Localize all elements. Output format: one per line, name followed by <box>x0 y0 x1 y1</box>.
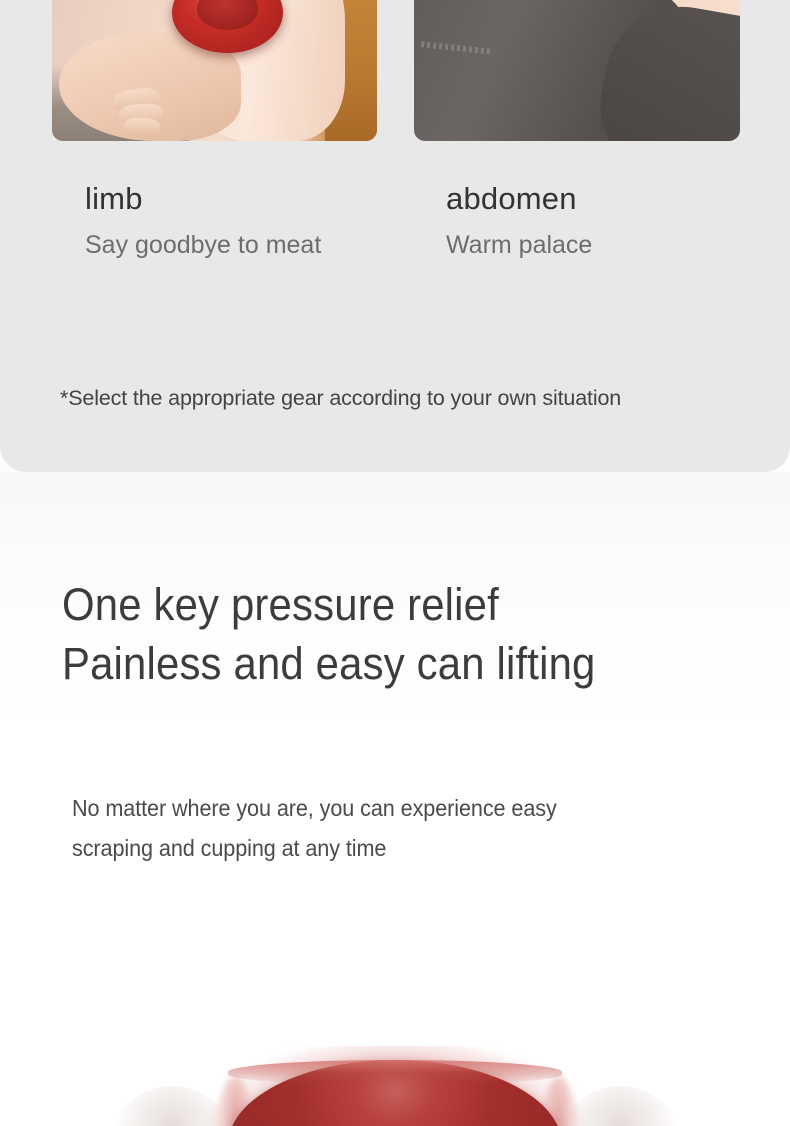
product-dome-rim <box>228 1060 562 1084</box>
usage-card-image-limb[interactable] <box>52 0 377 141</box>
feature-body-line-1: No matter where you are, you can experie… <box>72 788 557 828</box>
feature-headline-line-2: Painless and easy can lifting <box>62 634 595 693</box>
usage-card-subtitle-abdomen: Warm palace <box>446 230 592 260</box>
abdomen-photo <box>414 0 740 141</box>
limb-photo-cup-inner <box>197 0 259 30</box>
feature-body-text: No matter where you are, you can experie… <box>72 788 557 868</box>
usage-card-subtitle-limb: Say goodbye to meat <box>85 230 321 260</box>
usage-card-title-limb: limb <box>85 180 321 218</box>
usage-card-title-abdomen: abdomen <box>446 180 592 218</box>
usage-card-image-abdomen[interactable] <box>414 0 740 141</box>
limb-photo <box>52 0 377 141</box>
product-image-area <box>0 1046 790 1126</box>
feature-body-line-2: scraping and cupping at any time <box>72 828 557 868</box>
limb-photo-finger <box>124 118 161 137</box>
product-cupping-device-dome <box>228 1060 562 1126</box>
usage-caption-abdomen: abdomen Warm palace <box>446 180 592 260</box>
usage-image-cards <box>0 0 790 141</box>
feature-headline-line-1: One key pressure relief <box>62 575 595 634</box>
feature-headline: One key pressure relief Painless and eas… <box>62 575 595 693</box>
usage-caption-limb: limb Say goodbye to meat <box>85 180 321 260</box>
usage-disclaimer: *Select the appropriate gear according t… <box>60 383 621 413</box>
